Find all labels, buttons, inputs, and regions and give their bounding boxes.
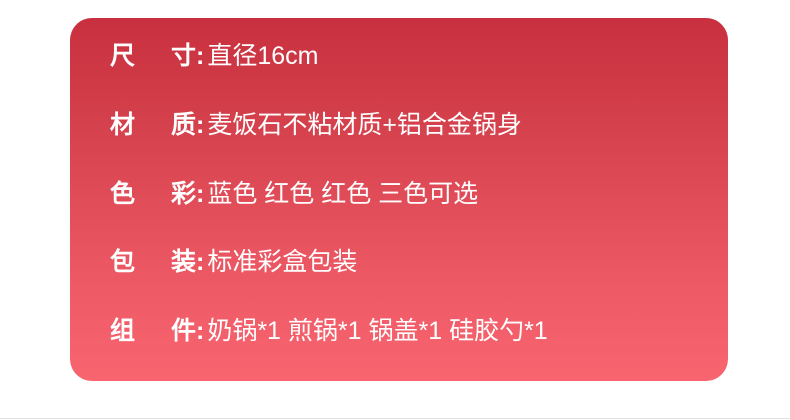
specification-panel: 尺寸 : 直径16cm 材质 : 麦饭石不粘材质+铝合金锅身 色彩 : 蓝色 红… xyxy=(70,18,728,381)
spec-value-packaging: 标准彩盒包装 xyxy=(207,250,357,275)
spec-label-size: 尺寸 xyxy=(110,44,196,69)
spec-value-color: 蓝色 红色 红色 三色可选 xyxy=(207,182,478,207)
spec-row-color: 色彩 : 蓝色 红色 红色 三色可选 xyxy=(70,182,728,222)
spec-colon-material: : xyxy=(196,113,204,138)
spec-row-components: 组件 : 奶锅*1 煎锅*1 锅盖*1 硅胶勺*1 xyxy=(70,319,728,359)
spec-label-components: 组件 xyxy=(110,319,196,344)
spec-value-size: 直径16cm xyxy=(207,44,318,69)
spec-colon-components: : xyxy=(196,319,204,344)
spec-label-packaging: 包装 xyxy=(110,250,196,275)
bottom-divider xyxy=(0,418,790,419)
spec-label-color: 色彩 xyxy=(110,182,196,207)
spec-value-components: 奶锅*1 煎锅*1 锅盖*1 硅胶勺*1 xyxy=(207,319,547,344)
spec-value-material: 麦饭石不粘材质+铝合金锅身 xyxy=(207,113,522,138)
spec-colon-color: : xyxy=(196,182,204,207)
spec-row-packaging: 包装 : 标准彩盒包装 xyxy=(70,250,728,290)
spec-colon-size: : xyxy=(196,44,204,69)
spec-label-material: 材质 xyxy=(110,113,196,138)
spec-row-size: 尺寸 : 直径16cm xyxy=(70,44,728,84)
spec-colon-packaging: : xyxy=(196,250,204,275)
spec-row-material: 材质 : 麦饭石不粘材质+铝合金锅身 xyxy=(70,113,728,153)
